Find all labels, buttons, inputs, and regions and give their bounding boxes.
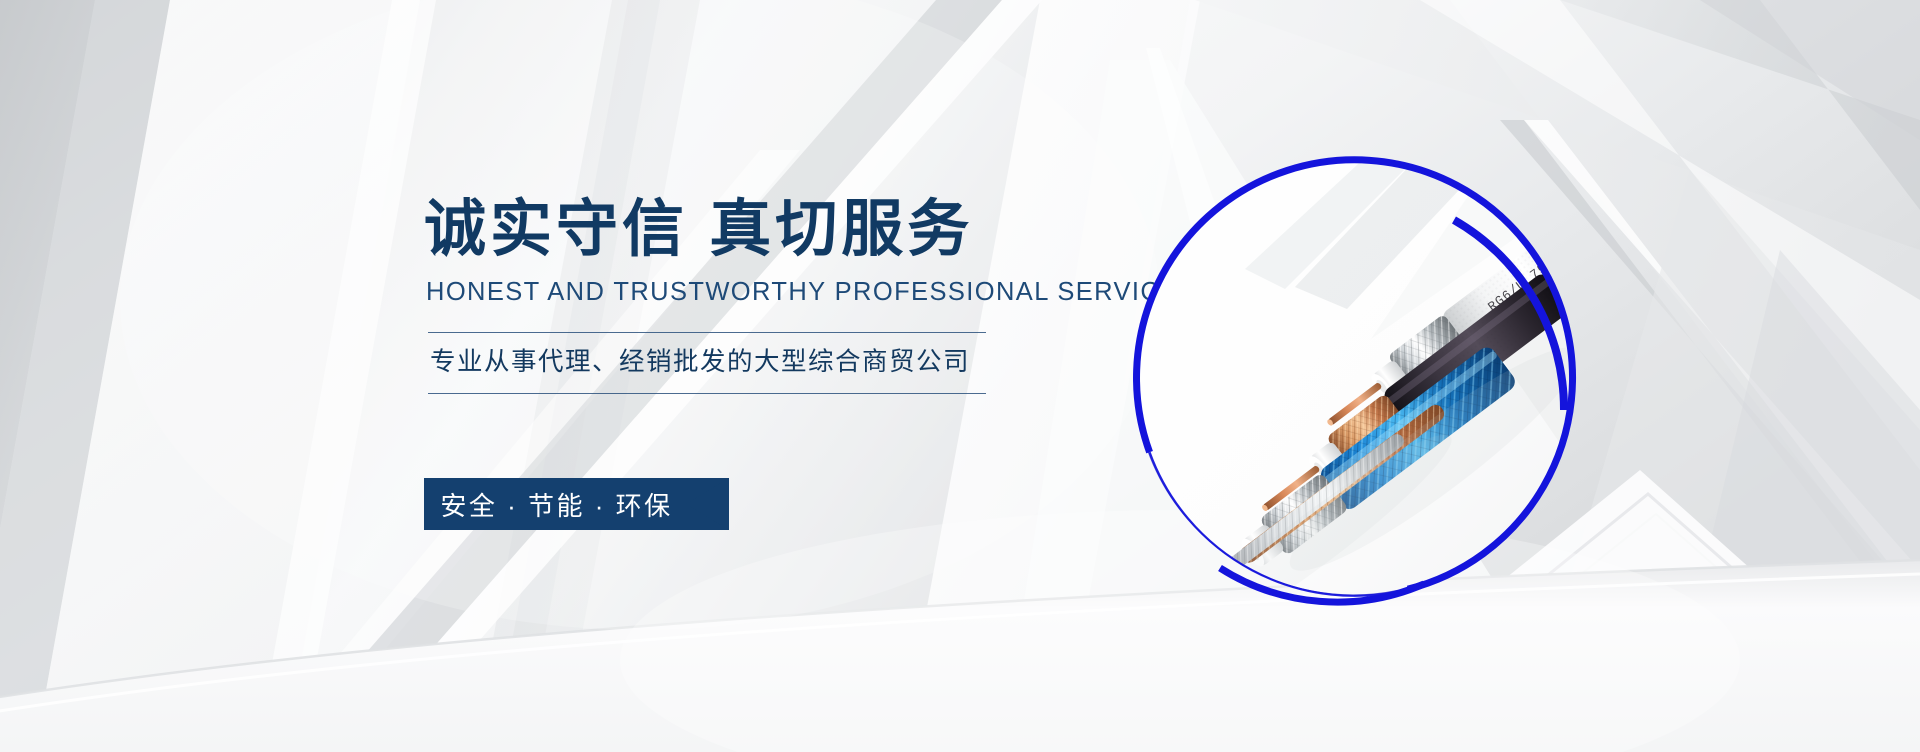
hero-banner: 诚实守信 真切服务 HONEST AND TRUSTWORTHY PROFESS… (0, 0, 1920, 752)
divider-bottom (428, 393, 986, 394)
hero-text-block: 诚实守信 真切服务 HONEST AND TRUSTWORTHY PROFESS… (424, 196, 1124, 394)
hero-description: 专业从事代理、经销批发的大型综合商贸公司 (430, 350, 1124, 376)
product-photo: RG6/U 75Ω (1135, 159, 1571, 595)
product-image-circle: RG6/U 75Ω (1124, 148, 1582, 606)
page-title: 诚实守信 真切服务 (424, 196, 1124, 264)
divider-top (428, 332, 986, 333)
hero-subheadline: HONEST AND TRUSTWORTHY PROFESSIONAL SERV… (426, 280, 1124, 306)
feature-tag (424, 478, 729, 530)
